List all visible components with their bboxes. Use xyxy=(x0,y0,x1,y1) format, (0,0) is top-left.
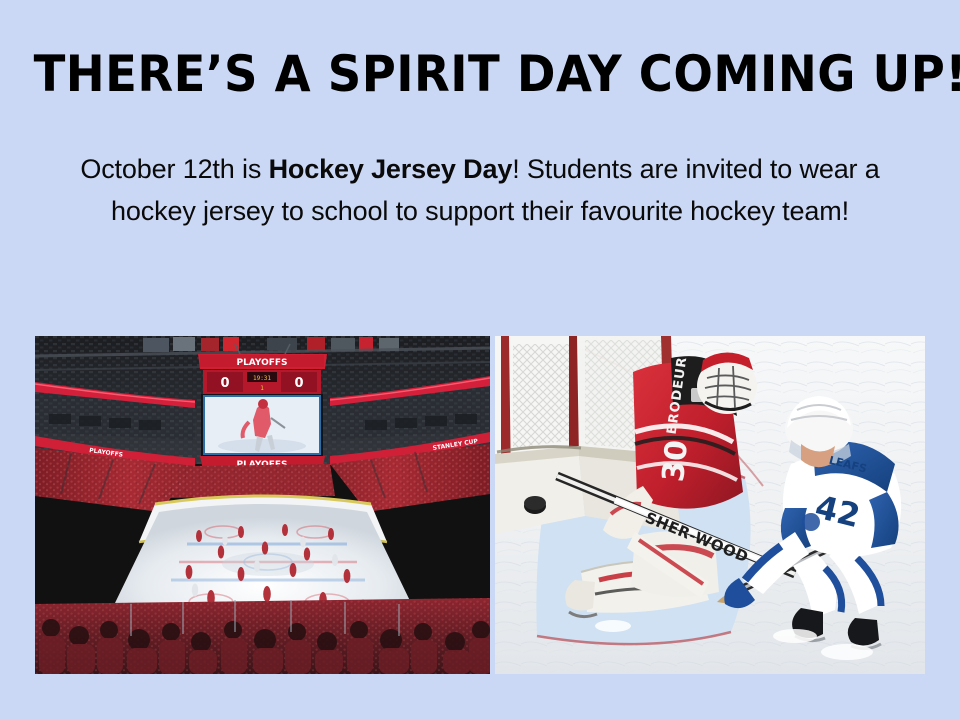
page-title: THERE’S A SPIRIT DAY COMING UP! xyxy=(34,46,927,102)
arena-illustration: PLAYOFFS 0 0 19:31 1 xyxy=(35,336,490,674)
scoreboard-banner-top: PLAYOFFS xyxy=(236,358,287,368)
goalie-mask xyxy=(697,352,757,414)
scoreboard: PLAYOFFS 0 0 19:31 1 xyxy=(198,344,327,470)
event-name-emphasis: Hockey Jersey Day xyxy=(269,154,513,184)
arena-photo: PLAYOFFS 0 0 19:31 1 xyxy=(35,336,490,674)
body-paragraph: October 12th is Hockey Jersey Day! Stude… xyxy=(60,148,900,232)
scoreboard-away-score: 0 xyxy=(294,376,303,391)
goalie-save-photo: BRODEUR 30 xyxy=(495,336,925,674)
slide-canvas: THERE’S A SPIRIT DAY COMING UP! October … xyxy=(0,0,960,720)
scoreboard-clock: 19:31 xyxy=(253,375,271,382)
body-lead-text: October 12th is xyxy=(80,154,268,184)
photo-strip: PLAYOFFS 0 0 19:31 1 xyxy=(35,336,925,674)
scoreboard-period: 1 xyxy=(260,385,264,392)
scoreboard-video-content xyxy=(204,396,320,454)
goalie-number: 30 xyxy=(656,438,695,483)
scoreboard-home-score: 0 xyxy=(220,376,229,391)
goalie-save-illustration: BRODEUR 30 xyxy=(495,336,925,674)
